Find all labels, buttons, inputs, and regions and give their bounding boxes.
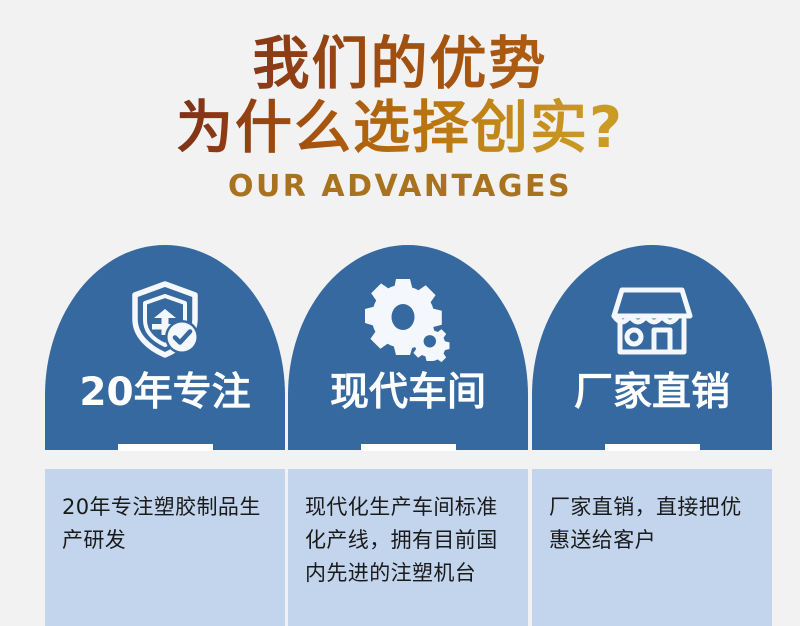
card-description: 现代化生产车间标准化产线，拥有目前国内先进的注塑机台 bbox=[305, 491, 514, 590]
card-divider-rule bbox=[118, 444, 213, 451]
card-title: 20年专注 bbox=[45, 370, 285, 415]
card-title: 厂家直销 bbox=[532, 370, 772, 415]
storefront-icon bbox=[532, 275, 772, 365]
card-description: 20年专注塑胶制品生产研发 bbox=[62, 491, 271, 557]
banner-header: 我们的优势 为什么选择创实? OUR ADVANTAGES bbox=[0, 0, 800, 225]
card-divider-rule bbox=[605, 444, 700, 451]
shield-check-icon bbox=[45, 275, 285, 365]
card-body-panel: 厂家直销，直接把优惠送给客户 bbox=[532, 469, 772, 626]
card-body-panel: 20年专注塑胶制品生产研发 bbox=[45, 469, 285, 626]
gears-icon bbox=[288, 275, 528, 365]
headline-primary: 我们的优势 bbox=[0, 33, 800, 95]
headline-english-subtitle: OUR ADVANTAGES bbox=[0, 170, 800, 204]
advantage-card: 厂家直销 厂家直销，直接把优惠送给客户 bbox=[532, 245, 772, 626]
advantage-card: 20年专注 20年专注塑胶制品生产研发 bbox=[45, 245, 285, 626]
headline-secondary: 为什么选择创实? bbox=[0, 97, 800, 159]
advantages-banner: 我们的优势 为什么选择创实? OUR ADVANTAGES bbox=[0, 0, 800, 626]
card-title: 现代车间 bbox=[288, 370, 528, 415]
card-description: 厂家直销，直接把优惠送给客户 bbox=[549, 491, 758, 557]
advantage-card: 现代车间 现代化生产车间标准化产线，拥有目前国内先进的注塑机台 bbox=[288, 245, 528, 626]
card-body-panel: 现代化生产车间标准化产线，拥有目前国内先进的注塑机台 bbox=[288, 469, 528, 626]
card-divider-rule bbox=[361, 444, 456, 451]
advantage-card-list: 20年专注 20年专注塑胶制品生产研发 bbox=[0, 245, 800, 626]
